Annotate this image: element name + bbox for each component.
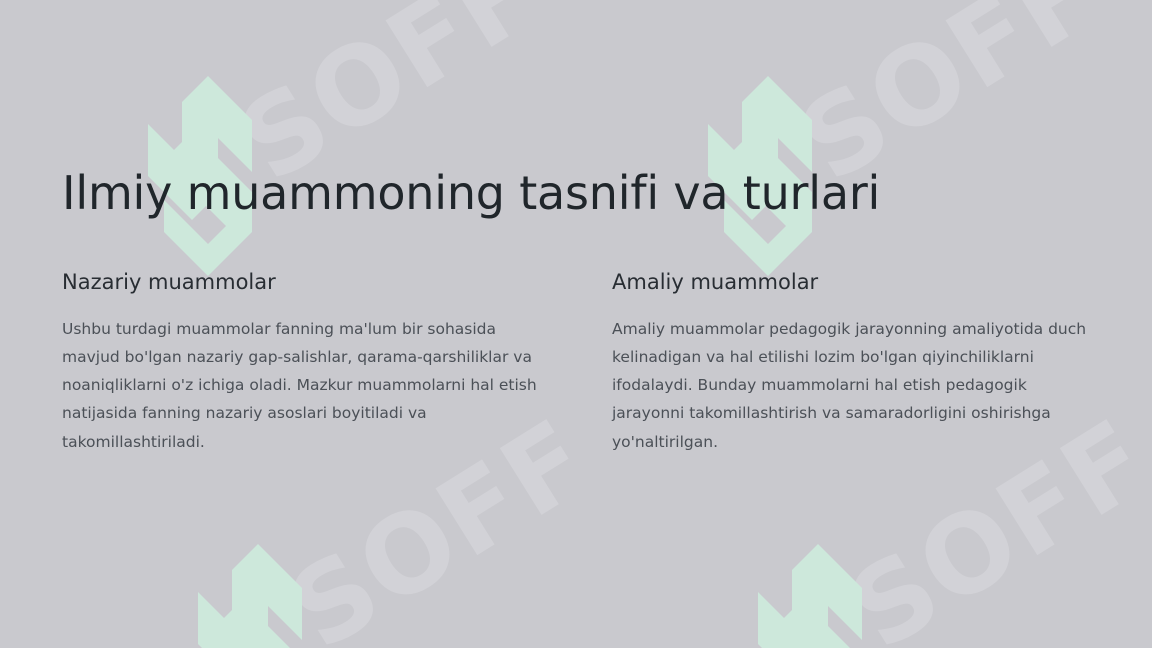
- page-title: Ilmiy muammoning tasnifi va turlari: [62, 168, 1090, 220]
- column-practical: Amaliy muammolar Amaliy muammolar pedago…: [612, 270, 1090, 456]
- column-heading: Amaliy muammolar: [612, 270, 1090, 295]
- column-heading: Nazariy muammolar: [62, 270, 540, 295]
- column-body: Amaliy muammolar pedagogik jarayonning a…: [612, 315, 1090, 456]
- column-theoretical: Nazariy muammolar Ushbu turdagi muammola…: [62, 270, 540, 456]
- slide-content: Ilmiy muammoning tasnifi va turlari Naza…: [0, 168, 1152, 456]
- soff-logo-icon: [198, 544, 302, 648]
- column-body: Ushbu turdagi muammolar fanning ma'lum b…: [62, 315, 540, 456]
- columns-container: Nazariy muammolar Ushbu turdagi muammola…: [62, 270, 1090, 456]
- slide-canvas: SOFF SOFF SOFF SOFF: [0, 0, 1152, 648]
- soff-logo-icon: [758, 544, 862, 648]
